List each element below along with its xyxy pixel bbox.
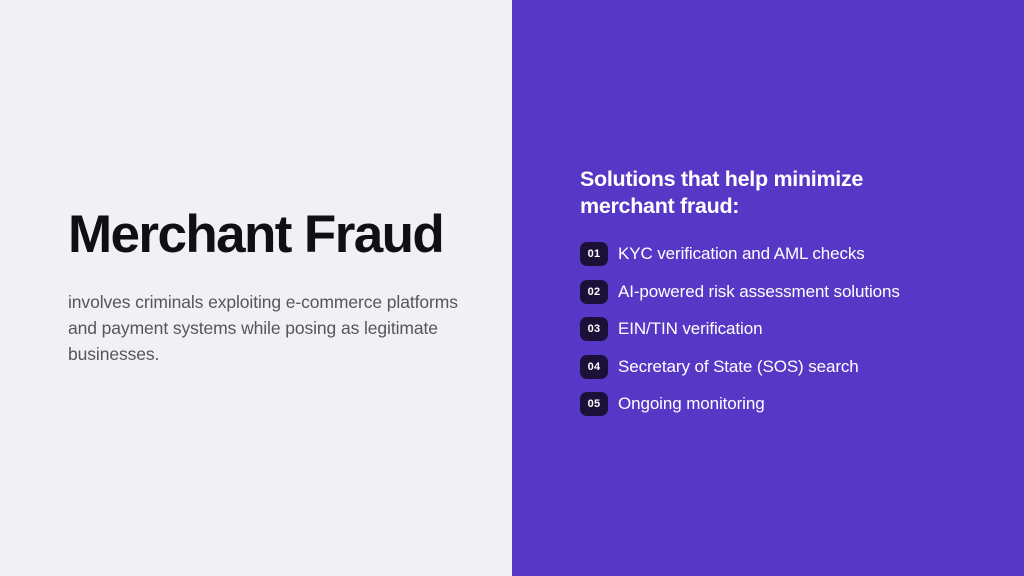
item-number-badge: 02 [580,280,608,304]
list-item-label: EIN/TIN verification [618,317,762,341]
list-item: 04 Secretary of State (SOS) search [580,355,1000,379]
item-number-badge: 03 [580,317,608,341]
list-item-label: Secretary of State (SOS) search [618,355,859,379]
list-item: 02 AI-powered risk assessment solutions [580,280,1000,304]
list-item-label: KYC verification and AML checks [618,242,865,266]
list-item: 03 EIN/TIN verification [580,317,1000,341]
list-item-label: AI-powered risk assessment solutions [618,280,900,304]
solutions-heading: Solutions that help minimize merchant fr… [580,166,910,220]
left-content-panel: Merchant Fraud involves criminals exploi… [0,0,512,576]
solutions-block: Solutions that help minimize merchant fr… [580,166,1000,430]
left-text-block: Merchant Fraud involves criminals exploi… [68,206,488,367]
solutions-list: 01 KYC verification and AML checks 02 AI… [580,242,1000,416]
item-number-badge: 01 [580,242,608,266]
page-title: Merchant Fraud [68,206,488,263]
list-item-label: Ongoing monitoring [618,392,765,416]
item-number-badge: 04 [580,355,608,379]
item-number-badge: 05 [580,392,608,416]
slide-root: Merchant Fraud involves criminals exploi… [0,0,1024,576]
list-item: 05 Ongoing monitoring [580,392,1000,416]
solutions-panel: Solutions that help minimize merchant fr… [512,0,1024,576]
page-description: involves criminals exploiting e-commerce… [68,289,480,367]
list-item: 01 KYC verification and AML checks [580,242,1000,266]
